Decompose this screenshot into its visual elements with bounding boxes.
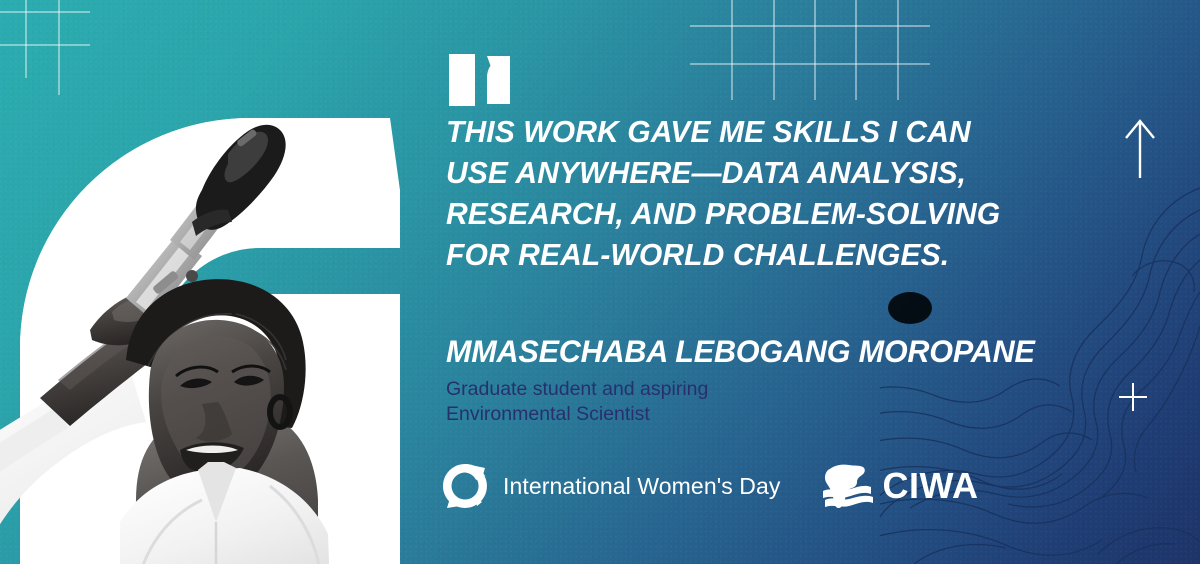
quote-card: This work gave me skills I can use anywh… — [0, 0, 1200, 564]
logo-row: International Women's Day CIWA — [441, 461, 979, 511]
grid-lines-top-right — [690, 0, 990, 105]
africa-map-wave-icon — [821, 461, 877, 511]
quote-line: use anywhere—data analysis, — [446, 153, 1076, 194]
open-quote-icon — [447, 48, 517, 110]
ciwa-logo: CIWA — [821, 461, 979, 511]
person-role-line: Environmental Scientist — [446, 402, 926, 427]
arrow-up-icon — [1120, 118, 1160, 180]
quote-line: This work gave me skills I can — [446, 112, 1076, 153]
person-role: Graduate student and aspiring Environmen… — [446, 377, 926, 427]
quote-line: research, and problem-solving — [446, 194, 1076, 235]
person-name: Mmasechaba Lebogang Moropane — [446, 333, 1125, 369]
plus-mark-right — [1119, 383, 1147, 411]
iwd-circular-arrow-icon — [441, 462, 489, 510]
iwd-label: International Women's Day — [503, 473, 781, 500]
quote-text: This work gave me skills I can use anywh… — [446, 112, 1076, 276]
portrait-photo — [0, 30, 410, 564]
quote-line: for real-world challenges. — [446, 235, 1076, 276]
international-womens-day-logo: International Women's Day — [441, 462, 781, 510]
ciwa-label: CIWA — [883, 465, 979, 507]
person-role-line: Graduate student and aspiring — [446, 377, 926, 402]
